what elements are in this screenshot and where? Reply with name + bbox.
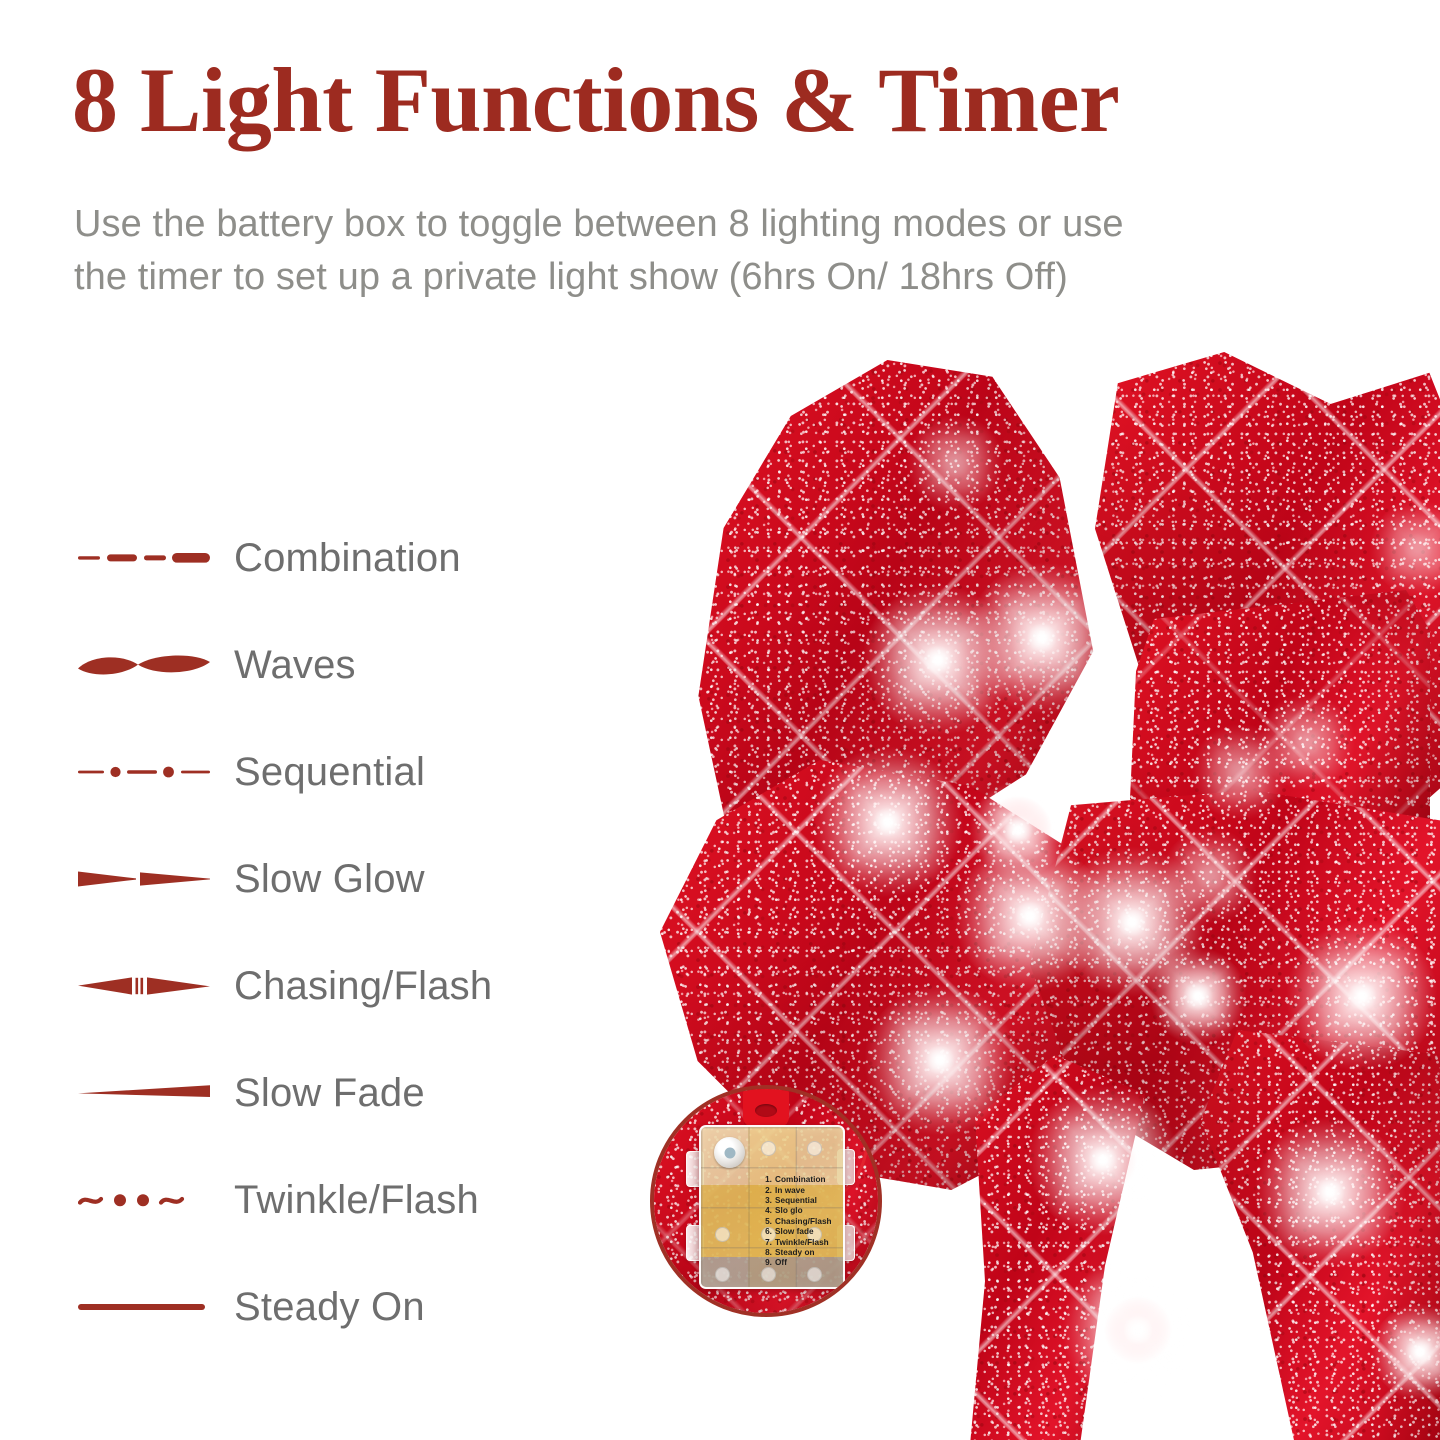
screw-dot	[807, 1141, 822, 1156]
battery-mode-item: 2.In wave	[759, 1186, 845, 1196]
led-light-point	[813, 747, 963, 897]
battery-mode-number: 7.	[759, 1238, 772, 1248]
legend-item-chasing-flash: Chasing/Flash	[72, 932, 632, 1039]
legend-item-label: Steady On	[234, 1287, 425, 1327]
battery-mode-label: Combination	[775, 1175, 826, 1184]
led-light-point	[1259, 694, 1355, 790]
bow-hanger-tab	[743, 1087, 789, 1127]
legend-item-steady-on: Steady On	[72, 1253, 632, 1360]
battery-mode-number: 9.	[759, 1258, 772, 1268]
solid-line-icon	[78, 1287, 210, 1327]
bow-loop-upper-right	[1095, 352, 1440, 872]
bow-tail-right	[1180, 1030, 1440, 1440]
battery-mode-label: In wave	[775, 1186, 805, 1195]
dash-dot-dash-icon	[78, 752, 210, 792]
battery-mode-label: Slo glo	[775, 1206, 803, 1215]
light-functions-legend: Combination Waves Sequential	[72, 504, 632, 1360]
battery-mode-item: 3.Sequential	[759, 1196, 845, 1206]
bow-loop-upper-left	[690, 360, 1110, 920]
bow-body-lower-right	[1030, 790, 1440, 1170]
page-subtitle: Use the battery box to toggle between 8 …	[74, 198, 1184, 304]
battery-mode-item: 1.Combination	[759, 1175, 845, 1185]
legend-item-slow-glow: Slow Glow	[72, 825, 632, 932]
battery-mode-item: 7.Twinkle/Flash	[759, 1238, 845, 1248]
legend-item-label: Slow Fade	[234, 1073, 425, 1113]
legend-item-label: Waves	[234, 645, 356, 685]
battery-mode-label: Sequential	[775, 1196, 817, 1205]
single-ramp-wedge-icon	[78, 1073, 210, 1113]
mode-button[interactable]	[714, 1137, 745, 1168]
led-light-point	[1162, 828, 1258, 924]
double-taper-right-icon	[78, 859, 210, 899]
battery-mode-label: Chasing/Flash	[775, 1217, 832, 1226]
legend-item-sequential: Sequential	[72, 718, 632, 825]
led-light-point	[1063, 1255, 1213, 1405]
led-light-point	[1028, 1085, 1178, 1235]
led-light-point	[955, 841, 1105, 991]
double-lens-wave-icon	[78, 645, 210, 685]
battery-mode-number: 2.	[759, 1186, 772, 1196]
led-light-point	[1372, 1304, 1440, 1400]
legend-item-slow-fade: Slow Fade	[72, 1039, 632, 1146]
legend-item-label: Twinkle/Flash	[234, 1180, 479, 1220]
battery-mode-item: 4.Slo glo	[759, 1206, 845, 1216]
led-light-point	[1057, 847, 1207, 997]
legend-item-waves: Waves	[72, 611, 632, 718]
legend-item-combination: Combination	[72, 504, 632, 611]
led-light-point	[1287, 921, 1437, 1071]
legend-item-twinkle-flash: Twinkle/Flash	[72, 1146, 632, 1253]
battery-mode-item: 9.Off	[759, 1258, 845, 1268]
battery-mode-number: 8.	[759, 1248, 772, 1258]
battery-mode-item: 6.Slow fade	[759, 1227, 845, 1237]
bow-center-knot	[1130, 590, 1430, 880]
tilde-dots-tilde-icon	[78, 1180, 210, 1220]
battery-mode-item: 8.Steady on	[759, 1248, 845, 1258]
battery-mode-number: 3.	[759, 1196, 772, 1206]
led-light-point	[967, 563, 1117, 713]
battery-mode-label: Slow fade	[775, 1227, 814, 1236]
led-light-point	[1150, 948, 1246, 1044]
led-light-point	[1370, 500, 1440, 596]
led-light-point	[970, 782, 1066, 878]
battery-mode-label: Steady on	[775, 1248, 815, 1257]
battery-box-closeup: 1.Combination 2.In wave 3.Sequential 4.S…	[650, 1085, 882, 1317]
battery-mode-number: 4.	[759, 1206, 772, 1216]
legend-item-label: Combination	[234, 538, 461, 578]
battery-mode-number: 6.	[759, 1227, 772, 1237]
bow-tail-left	[930, 1055, 1180, 1440]
led-light-point	[863, 585, 1013, 735]
led-light-point	[1192, 724, 1288, 820]
battery-mode-item: 5.Chasing/Flash	[759, 1217, 845, 1227]
dashes-increasing-icon	[78, 538, 210, 578]
led-light-point	[907, 415, 1003, 511]
battery-mode-number: 5.	[759, 1217, 772, 1227]
battery-mode-number: 1.	[759, 1175, 772, 1185]
screw-dot	[715, 1267, 730, 1282]
page-title: 8 Light Functions & Timer	[72, 54, 1372, 146]
battery-mode-label: Off	[775, 1258, 787, 1267]
legend-item-label: Sequential	[234, 752, 425, 792]
screw-dot	[761, 1267, 776, 1282]
infographic-page: 8 Light Functions & Timer Use the batter…	[0, 0, 1440, 1440]
opposing-wedges-bars-icon	[78, 966, 210, 1006]
led-light-point	[1255, 1117, 1405, 1267]
screw-dot	[761, 1141, 776, 1156]
battery-box-mode-list: 1.Combination 2.In wave 3.Sequential 4.S…	[719, 1175, 845, 1269]
led-light-point	[865, 985, 1015, 1135]
battery-box[interactable]: 1.Combination 2.In wave 3.Sequential 4.S…	[699, 1125, 845, 1289]
screw-dot	[807, 1267, 822, 1282]
legend-item-label: Chasing/Flash	[234, 966, 492, 1006]
battery-mode-label: Twinkle/Flash	[775, 1238, 829, 1247]
legend-item-label: Slow Glow	[234, 859, 425, 899]
